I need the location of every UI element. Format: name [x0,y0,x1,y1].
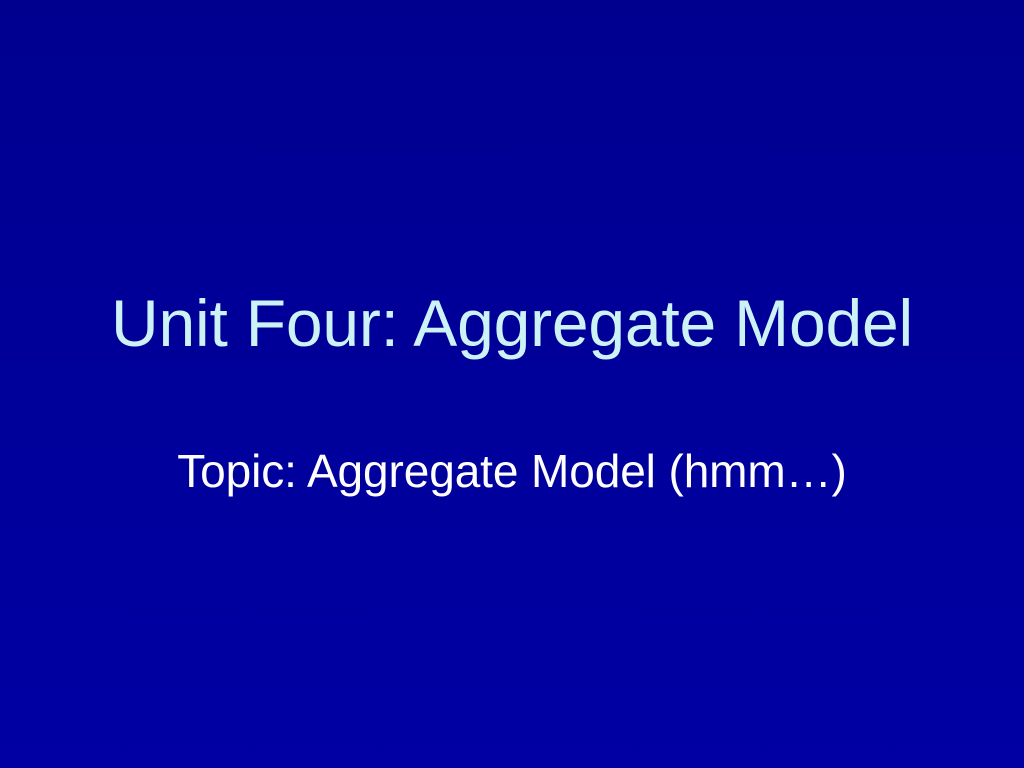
presentation-slide: Unit Four: Aggregate Model Topic: Aggreg… [0,0,1024,768]
subtitle-placeholder[interactable]: Topic: Aggregate Model (hmm…) [64,432,960,512]
slide-subtitle: Topic: Aggregate Model (hmm…) [177,447,847,497]
slide-title: Unit Four: Aggregate Model [111,289,913,358]
title-placeholder[interactable]: Unit Four: Aggregate Model [64,268,960,378]
